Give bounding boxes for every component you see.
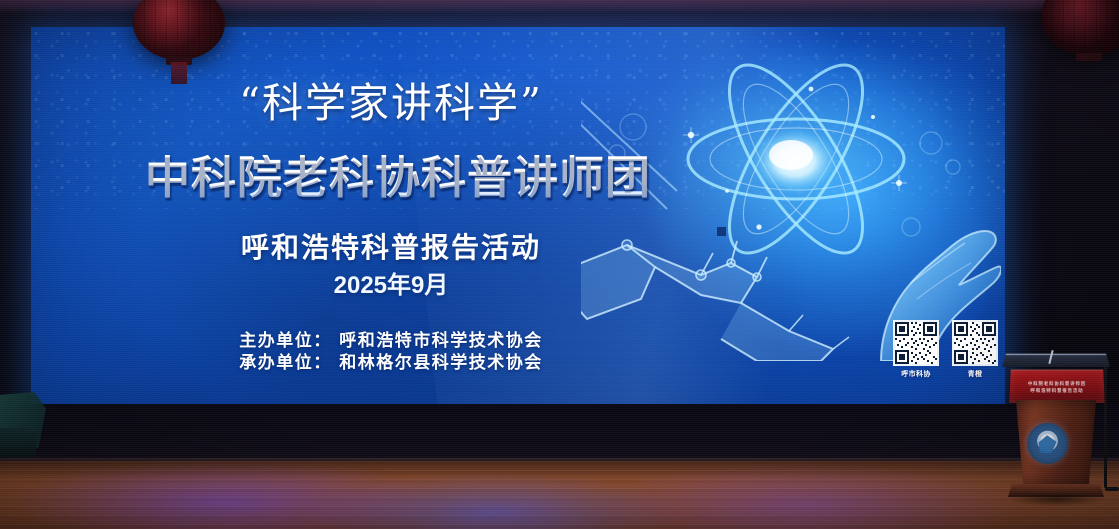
event-subtitle: 呼和浩特科普报告活动 [141, 234, 641, 262]
organizer-line-host: 主办单位： 呼和浩特市科学技术协会 [136, 330, 646, 352]
podium-stand-foot [1105, 487, 1119, 491]
podium-banner-line-2: 呼和浩特科普报告活动 [1030, 386, 1083, 393]
stage-side-object-base [0, 428, 36, 458]
main-headline: 中科院老科协科普讲师团 [103, 155, 693, 200]
organizer-line-co-host: 承办单位： 和林格尔县科学技术协会 [136, 352, 646, 374]
organizer-block: 主办单位： 呼和浩特市科学技术协会 承办单位： 和林格尔县科学技术协会 [136, 330, 646, 374]
podium-cable [1104, 362, 1107, 488]
podium-banner-line-1: 中科院老科协科普讲师团 [1028, 380, 1086, 387]
qr-caption: 呼市科协 [893, 369, 939, 379]
event-date: 2025年9月 [141, 274, 641, 298]
speaker-podium: 中科院老科协科普讲师团 呼和浩特科普报告活动 [996, 352, 1114, 512]
floor-planks-texture [0, 461, 1119, 529]
qr-item-qingcheng[interactable]: 青橙 [952, 320, 998, 379]
lantern-tassel [171, 62, 187, 84]
stage-apron [0, 404, 1119, 461]
science-association-emblem-icon [1027, 423, 1068, 464]
qr-code-group: 呼市科协 [893, 320, 998, 379]
screen-text-block: “科学家讲科学” 中科院老科协科普讲师团 中科院老科协科普讲师团 呼和浩特科普报… [31, 27, 671, 406]
qr-code-icon[interactable] [952, 320, 998, 366]
lantern-cap-bottom [1076, 53, 1102, 61]
qr-code-icon[interactable] [893, 320, 939, 366]
podium-top-surface [1002, 354, 1110, 367]
podium-floor-shadow [998, 494, 1116, 512]
qr-caption: 青橙 [952, 369, 998, 379]
qr-item-hushi-kexie[interactable]: 呼市科协 [893, 320, 939, 379]
podium-banner: 中科院老科协科普讲师团 呼和浩特科普报告活动 [1009, 370, 1104, 403]
stage-photo-scene: “科学家讲科学” 中科院老科协科普讲师团 中科院老科协科普讲师团 呼和浩特科普报… [0, 0, 1119, 529]
stage-floor [0, 461, 1119, 529]
quoted-program-title: “科学家讲科学” [151, 83, 631, 124]
